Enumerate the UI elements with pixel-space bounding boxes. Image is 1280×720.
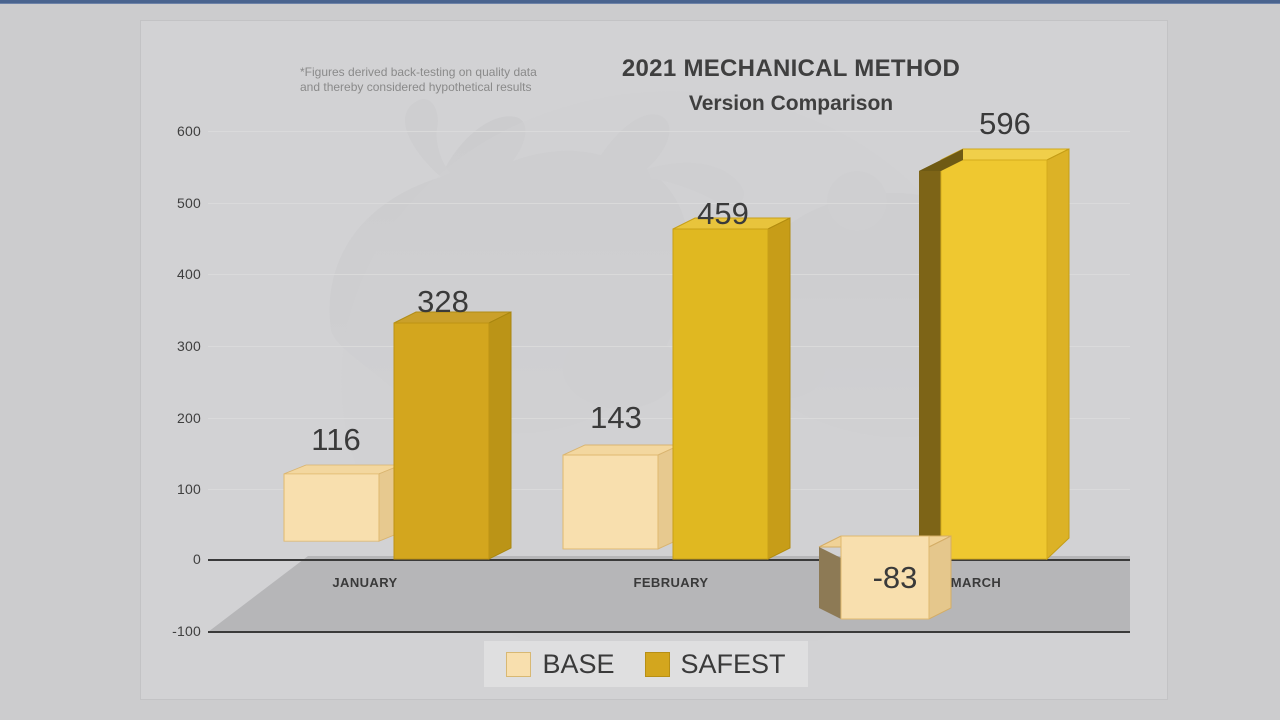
- chart-title: 2021 MECHANICAL METHOD: [471, 55, 1111, 83]
- window-chrome-strip: [0, 0, 1280, 4]
- bull-bear-watermark: [291, 81, 1051, 641]
- chart-panel: *Figures derived back-testing on quality…: [140, 20, 1168, 700]
- legend-item-base[interactable]: BASE: [506, 651, 614, 678]
- legend-item-safest[interactable]: SAFEST: [645, 651, 786, 678]
- chart-subtitle: Version Comparison: [471, 92, 1111, 116]
- legend-label-safest: SAFEST: [681, 651, 786, 678]
- legend-swatch-safest: [645, 652, 670, 677]
- legend-label-base: BASE: [542, 651, 614, 678]
- chart-legend[interactable]: BASE SAFEST: [484, 641, 808, 687]
- legend-swatch-base: [506, 652, 531, 677]
